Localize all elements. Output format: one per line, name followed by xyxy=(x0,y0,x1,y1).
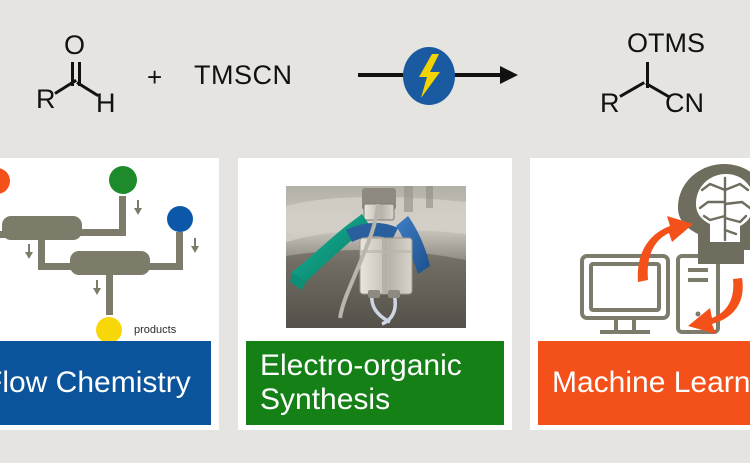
caption-electro-organic-text: Electro-organic Synthesis xyxy=(260,349,490,417)
bond-r-c-product xyxy=(619,81,645,98)
pipe-green-horz xyxy=(77,229,126,236)
electro-organic-art xyxy=(238,158,512,344)
substrate-r-label: R xyxy=(36,86,56,113)
arrow-head xyxy=(500,66,518,84)
panel-electro-organic-synthesis: Electro-organic Synthesis xyxy=(238,158,512,430)
flow-chemistry-art: products xyxy=(0,158,219,344)
electrochemical-cell-photo xyxy=(286,186,466,328)
products-label: products xyxy=(134,324,176,336)
caption-machine-learning-text: Machine Learning xyxy=(552,366,750,400)
electrochemical-cell-photo-image xyxy=(286,186,466,328)
outlet-yellow-dot xyxy=(96,317,122,343)
machine-learning-art xyxy=(530,158,750,344)
flow-arrow-blue-stem xyxy=(194,238,196,248)
flow-arrow-outlet-stem xyxy=(96,280,98,290)
panel-machine-learning: Machine Learning xyxy=(530,158,750,430)
caption-electro-organic: Electro-organic Synthesis xyxy=(246,341,504,425)
reactor-block-2 xyxy=(70,251,150,275)
reagent-label: TMSCN xyxy=(194,60,293,91)
machine-learning-icon xyxy=(530,158,750,348)
flow-chemistry-schematic: products xyxy=(0,158,219,348)
reactor-block-1 xyxy=(2,216,82,240)
bond-c-o-a xyxy=(71,62,74,86)
lightning-bolt-icon xyxy=(415,53,443,99)
caption-flow-chemistry-text: Flow Chemistry xyxy=(0,366,191,400)
panel-flow-chemistry: products Flow Chemistry xyxy=(0,158,219,430)
graphical-abstract: R O H + TMSCN OTMS R CN xyxy=(0,0,750,463)
product-r-label: R xyxy=(600,90,620,117)
caption-flow-chemistry: Flow Chemistry xyxy=(0,341,211,425)
head-with-brain-icon xyxy=(678,164,750,264)
inlet-orange-dot xyxy=(0,168,10,194)
pipe-outlet-vert xyxy=(106,273,113,315)
product-otms-label: OTMS xyxy=(627,30,705,57)
caption-machine-learning: Machine Learning xyxy=(538,341,750,425)
inlet-blue-dot xyxy=(167,206,193,232)
computer-monitor-icon xyxy=(582,256,668,332)
flow-arrow-green-stem xyxy=(137,200,139,210)
product-cn-label: CN xyxy=(665,90,704,117)
inlet-green-dot xyxy=(109,166,137,194)
plus-sign: + xyxy=(147,62,162,93)
reaction-scheme: R O H + TMSCN OTMS R CN xyxy=(0,0,750,156)
substrate-o-label: O xyxy=(64,32,85,59)
flow-arrow-mid-stem xyxy=(28,244,30,254)
